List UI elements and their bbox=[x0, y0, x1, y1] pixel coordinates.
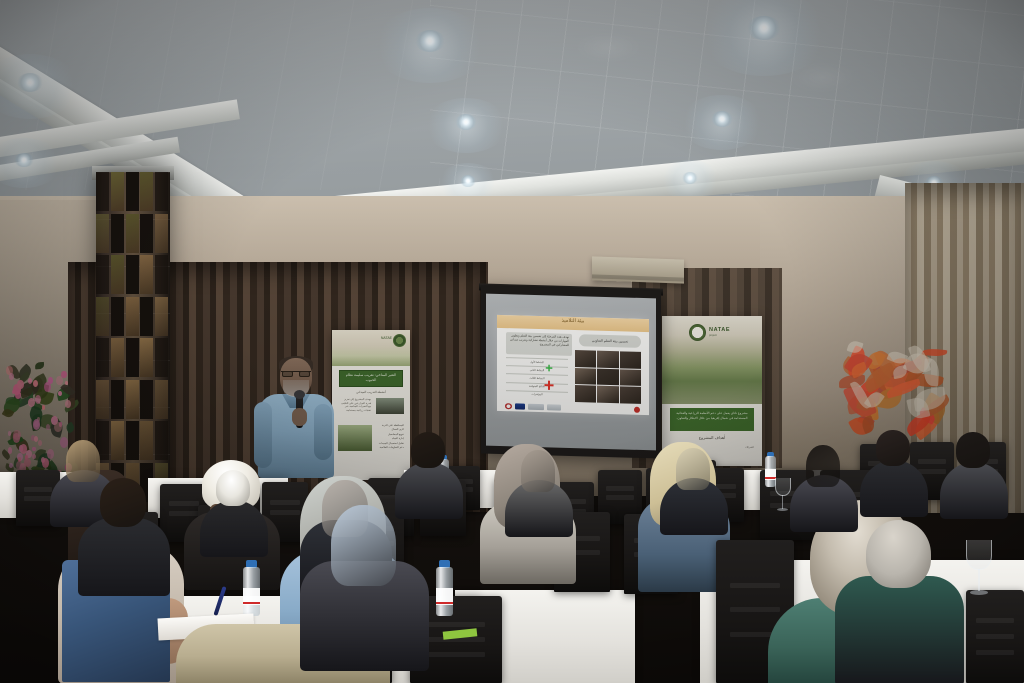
column-tile bbox=[126, 338, 139, 377]
slide-photo-thumb bbox=[620, 369, 641, 386]
column-tile bbox=[155, 380, 168, 419]
pink-blossom bbox=[24, 458, 30, 467]
column-tile bbox=[96, 172, 109, 211]
attendee-grey-hair-man bbox=[835, 520, 971, 683]
pink-blossom bbox=[44, 382, 51, 392]
pink-blossom bbox=[28, 378, 32, 384]
pink-blossom bbox=[32, 447, 35, 452]
attendee-back-row-2 bbox=[940, 432, 1011, 518]
pink-blossom bbox=[42, 405, 46, 410]
slide-footer-logo bbox=[547, 404, 561, 410]
banner-left-field-image bbox=[338, 425, 372, 451]
pink-blossom bbox=[8, 431, 11, 436]
bottle-label-stripe bbox=[765, 477, 776, 479]
banner-right-logo-text: NATAE bbox=[709, 327, 730, 333]
column-tile bbox=[96, 380, 109, 419]
ceiling-light-1 bbox=[17, 73, 43, 92]
column-tile bbox=[96, 255, 109, 294]
banner-left-headline: التغير المناخي: تقريب سليمة نظام الحبوب bbox=[339, 370, 403, 387]
attendee-back-row-1-body bbox=[860, 460, 928, 518]
column-tile bbox=[140, 172, 153, 211]
pink-blossom bbox=[32, 454, 36, 459]
column-tile bbox=[111, 255, 124, 294]
ceiling-light-4 bbox=[455, 114, 477, 130]
column-tile bbox=[155, 297, 168, 336]
slide-plus-red-icon: + bbox=[541, 378, 557, 394]
column-tile bbox=[111, 338, 124, 377]
ceiling-light-5 bbox=[460, 175, 476, 187]
foliage-leaf bbox=[65, 422, 77, 434]
attendee-hijab-beige-mid-head bbox=[521, 450, 555, 492]
slide-photo-thumb bbox=[620, 351, 641, 368]
attendee-grey-hair-man-body bbox=[835, 576, 964, 683]
column-tile bbox=[126, 297, 139, 336]
chair-slat bbox=[976, 650, 1013, 655]
column-tile bbox=[140, 297, 153, 336]
attendee-dark-front-head bbox=[411, 432, 445, 468]
attendee-dark-hijab-right bbox=[790, 445, 861, 531]
banner-right-footer-left: الشركاء bbox=[745, 446, 754, 449]
pink-blossom bbox=[9, 373, 14, 380]
banner-left-body-text: يهدف المشروع إلى تعزيز قدرة المزارعين عل… bbox=[339, 398, 371, 413]
slide-plus-green-icon: + bbox=[543, 362, 555, 374]
slide-footer-logo bbox=[528, 404, 544, 410]
slide-photo-thumb bbox=[597, 368, 618, 385]
presenter-glasses-left-lens bbox=[282, 371, 293, 377]
column-tile bbox=[140, 421, 153, 460]
foliage-leaf bbox=[35, 362, 44, 370]
bottle-label bbox=[765, 469, 776, 480]
column-tile bbox=[140, 255, 153, 294]
pink-blossom bbox=[13, 430, 20, 440]
banner-left-subtitle: أنشطة التدريب الميداني bbox=[340, 390, 402, 394]
pink-blossom bbox=[61, 371, 66, 378]
column-tile bbox=[126, 172, 139, 211]
column-tile bbox=[140, 338, 153, 377]
attendee-white-cap-head bbox=[216, 470, 250, 506]
chair-slat bbox=[976, 618, 1013, 623]
chair-slat bbox=[976, 634, 1013, 639]
microphone-head-icon bbox=[294, 390, 305, 399]
attendee-grey-hair-man-head bbox=[866, 520, 931, 588]
slide-table: النشاط الأولالنشاط الثانيالنشاط الثالثال… bbox=[506, 357, 568, 405]
pink-blossom bbox=[8, 447, 13, 454]
presenter-arm-left bbox=[254, 402, 272, 468]
chair-slat bbox=[24, 496, 52, 501]
presenter-hand bbox=[292, 408, 307, 426]
column-tile bbox=[155, 338, 168, 377]
bottle-label-stripe bbox=[243, 602, 260, 604]
attendee-back-row-1 bbox=[860, 430, 931, 516]
wineglass-foot bbox=[777, 508, 788, 511]
water-bottle-2 bbox=[436, 560, 453, 616]
pink-blossom bbox=[33, 380, 38, 387]
water-bottle-3 bbox=[765, 452, 776, 487]
bottle-label-stripe bbox=[436, 602, 453, 604]
presentation-slide: بيئة التلاميذ تهدف هذه المرحلة إلى تحسين… bbox=[497, 315, 649, 415]
column-tile bbox=[155, 421, 168, 460]
water-bottle-1 bbox=[243, 560, 260, 616]
column-tile bbox=[140, 214, 153, 253]
attendee-hijab-beige-mid bbox=[505, 450, 576, 536]
slide-paragraph: تهدف هذه المرحلة إلى تحسين بيئة التعلم و… bbox=[506, 332, 572, 356]
slide-corner-badge bbox=[634, 407, 640, 413]
attendee-longhair-front bbox=[78, 478, 174, 595]
banner-right-green-block: مشروع ناتاي يعمل على دعم الأنظمة الزراعي… bbox=[670, 408, 754, 431]
slide-photo-thumb bbox=[620, 387, 641, 404]
column-tile bbox=[155, 172, 168, 211]
column-tile bbox=[126, 421, 139, 460]
air-conditioner-unit bbox=[592, 256, 684, 283]
bottle-label bbox=[243, 588, 260, 605]
column-tile bbox=[96, 338, 109, 377]
pink-blossom bbox=[46, 424, 51, 430]
slide-table-row: المؤشرات bbox=[506, 390, 568, 399]
slide-photo-thumb bbox=[575, 385, 596, 402]
column-tile bbox=[96, 297, 109, 336]
column-tile bbox=[126, 380, 139, 419]
wineglass-bowl bbox=[775, 478, 791, 496]
ac-vent bbox=[592, 274, 684, 281]
slide-footer-logo bbox=[515, 403, 525, 409]
slide-callout-bubble: تحسين بيئة التعلم التعاوني bbox=[579, 334, 641, 348]
slide-photo-thumb bbox=[575, 350, 596, 367]
wine-glass-2 bbox=[775, 478, 791, 513]
attendee-hijab-lightblue-head bbox=[331, 505, 396, 586]
column-tile bbox=[126, 214, 139, 253]
attendee-longhair-front-body bbox=[78, 518, 170, 596]
chair-slat bbox=[606, 486, 634, 491]
conference-room-photo: NATAE التغير المناخي: تقريب سليمة نظام ا… bbox=[0, 0, 1024, 683]
banner-right-logo-subtext: project bbox=[709, 334, 717, 337]
column-tile bbox=[155, 255, 168, 294]
presenter-glasses-right-lens bbox=[299, 371, 310, 377]
ceiling-light-8 bbox=[682, 172, 698, 184]
slide-footer-logos bbox=[505, 403, 595, 413]
attendee-white-cap bbox=[200, 470, 271, 556]
ceiling-light-3 bbox=[415, 30, 445, 52]
chair-front-4 bbox=[966, 590, 1024, 683]
pink-blossom bbox=[38, 440, 43, 446]
pink-blossom bbox=[28, 398, 35, 407]
attendee-hijab-lightblue bbox=[300, 505, 436, 669]
column-tile bbox=[111, 172, 124, 211]
attendee-hijab-cream bbox=[660, 448, 731, 534]
column-tile bbox=[111, 297, 124, 336]
presenter-arm-right bbox=[314, 404, 332, 460]
column-tile bbox=[140, 380, 153, 419]
banner-right-logo-icon bbox=[689, 324, 706, 341]
wineglass-stem bbox=[782, 495, 783, 508]
column-tile bbox=[96, 214, 109, 253]
pink-blossom bbox=[54, 422, 61, 432]
column-tile bbox=[111, 380, 124, 419]
slide-footer-logo bbox=[505, 403, 512, 409]
attendee-hijab-cream-head bbox=[676, 448, 710, 490]
banner-left-photo bbox=[376, 398, 404, 414]
column-tile bbox=[126, 255, 139, 294]
column-tile bbox=[155, 214, 168, 253]
slide-photo-thumb bbox=[575, 368, 596, 385]
chair-slat bbox=[24, 487, 52, 492]
attendee-back-row-2-body bbox=[940, 462, 1008, 520]
bottle-label bbox=[436, 588, 453, 605]
pink-blossom bbox=[58, 391, 62, 396]
attendee-white-cap-body bbox=[200, 500, 268, 558]
attendee-back-row-2-head bbox=[956, 432, 990, 468]
ceiling-light-7 bbox=[711, 111, 733, 127]
wineglass-foot bbox=[970, 590, 988, 595]
pink-blossom bbox=[34, 436, 38, 442]
attendee-longhair-front-head bbox=[100, 478, 146, 527]
banner-left-logo-text: NATAE bbox=[381, 336, 392, 340]
slide-photo-thumb bbox=[597, 386, 618, 403]
presenter-speaking bbox=[252, 358, 338, 476]
chair-slat bbox=[606, 495, 634, 500]
banner-right-caption: أهداف المشروع bbox=[670, 435, 754, 440]
attendee-hijab-tan-left-head bbox=[66, 440, 100, 482]
attendee-dark-hijab-right-head bbox=[806, 445, 840, 487]
banner-left-logo-icon bbox=[393, 334, 406, 347]
column-tile bbox=[111, 214, 124, 253]
attendee-back-row-1-head bbox=[876, 430, 910, 466]
slide-photo-grid bbox=[575, 350, 641, 404]
wineglass-stem bbox=[978, 569, 980, 591]
slide-photo-thumb bbox=[597, 351, 618, 368]
pink-blossom bbox=[17, 380, 23, 389]
